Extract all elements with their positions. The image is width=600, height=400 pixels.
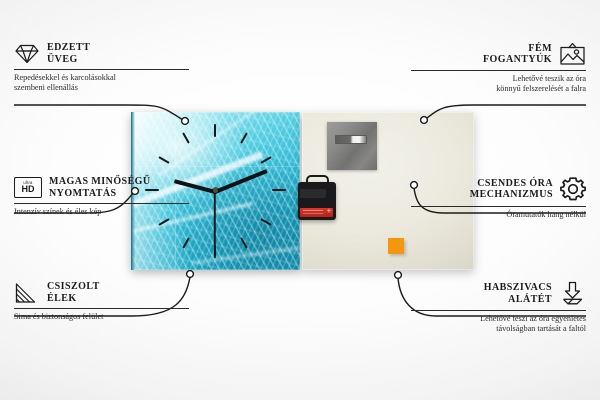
callout-title-line1: MAGAS MINŐSÉGŰ <box>49 176 151 188</box>
callout-title-group: EDZETT ÜVEG <box>47 42 90 65</box>
gear-icon <box>560 176 586 202</box>
quartz-mechanism: + <box>298 182 336 220</box>
callout-title-group: HABSZIVACS ALÁTÉT <box>484 282 552 305</box>
callout-subtitle-line1: Intenzív színek és éles kép <box>14 207 189 217</box>
foam-pad <box>388 238 404 254</box>
callout-metal-handles[interactable]: FÉM FOGANTYÚK Lehetővé teszik az óra kön… <box>411 42 586 94</box>
callout-title-line1: CSENDES ÓRA <box>470 178 553 190</box>
callout-subtitle-line1: Lehetővé teszi az óra egyenletes <box>411 314 586 324</box>
battery-plus-label: + <box>327 208 331 216</box>
callout-title-line2: NYOMTATÁS <box>49 188 151 200</box>
callout-subtitle-line1: Óramutatók hang nélkül <box>411 210 586 220</box>
callout-high-quality-print[interactable]: ultra HD MAGAS MINŐSÉGŰ NYOMTATÁS Intenz… <box>14 176 189 217</box>
callout-title-group: CSENDES ÓRA MECHANIZMUS <box>470 178 553 201</box>
callout-tempered-glass[interactable]: EDZETT ÜVEG Repedésekkel és karcolásokka… <box>14 42 189 93</box>
callout-subtitle-line2: szembeni ellenállás <box>14 83 189 93</box>
callout-title-group: CSISZOLT ÉLEK <box>47 281 100 304</box>
callout-subtitle-line1: Lehetővé teszik az óra <box>411 74 586 84</box>
picture-frame-icon <box>559 42 586 66</box>
callout-header: CSISZOLT ÉLEK <box>14 281 189 304</box>
callout-subtitle-line2: könnyű felszerelését a falra <box>411 84 586 94</box>
callout-divider <box>14 308 189 309</box>
diamond-icon <box>14 43 40 64</box>
callout-title-line2: ÜVEG <box>47 54 90 66</box>
callout-title-line1: FÉM <box>483 43 552 55</box>
callout-header: FÉM FOGANTYÚK <box>411 42 586 66</box>
callout-header: ultra HD MAGAS MINŐSÉGŰ NYOMTATÁS <box>14 176 189 199</box>
callout-divider <box>14 69 189 70</box>
clock-center-cap <box>213 188 218 193</box>
infographic-canvas: + <box>0 0 600 400</box>
battery-stripe <box>303 210 323 211</box>
callout-subtitle-line2: távolságban tartását a faltól <box>411 324 586 334</box>
callout-header: EDZETT ÜVEG <box>14 42 189 65</box>
callout-silent-clock-mechanism[interactable]: CSENDES ÓRA MECHANIZMUS Óramutatók hang … <box>411 176 586 220</box>
callout-title-line1: EDZETT <box>47 42 90 54</box>
battery: + <box>300 208 333 217</box>
clock-second-hand <box>214 192 216 248</box>
callout-polished-edges[interactable]: CSISZOLT ÉLEK Sima és biztonságos felüle… <box>14 281 189 322</box>
down-arrow-pad-icon <box>559 281 586 306</box>
callout-foam-backing[interactable]: HABSZIVACS ALÁTÉT Lehetővé teszi az óra … <box>411 281 586 334</box>
metal-hanger-icon <box>306 175 329 186</box>
badge-hd-label: HD <box>22 185 35 194</box>
clock-tick <box>214 124 216 137</box>
callout-header: HABSZIVACS ALÁTÉT <box>411 281 586 306</box>
connector-endpoint <box>187 271 194 278</box>
callout-title-line2: FOGANTYÚK <box>483 54 552 66</box>
callout-title-group: MAGAS MINŐSÉGŰ NYOMTATÁS <box>49 176 151 199</box>
callout-divider <box>411 70 586 71</box>
callout-title-line2: MECHANIZMUS <box>470 189 553 201</box>
callout-title-line1: CSISZOLT <box>47 281 100 293</box>
clock-tick <box>272 189 286 191</box>
callout-subtitle-line1: Repedésekkel és karcolásokkal <box>14 73 189 83</box>
callout-title-line1: HABSZIVACS <box>484 282 552 294</box>
connector-endpoint <box>395 272 402 279</box>
metal-hanger-plate <box>327 122 377 170</box>
beveled-edge-icon <box>14 282 40 304</box>
callout-divider <box>14 203 189 204</box>
callout-title-group: FÉM FOGANTYÚK <box>483 43 552 66</box>
ultra-hd-badge-icon: ultra HD <box>14 177 42 198</box>
callout-header: CSENDES ÓRA MECHANIZMUS <box>411 176 586 202</box>
callout-title-line2: ÉLEK <box>47 293 100 305</box>
glass-seam <box>131 166 300 167</box>
mechanism-band <box>300 189 326 198</box>
callout-title-line2: ALÁTÉT <box>484 294 552 306</box>
callout-divider <box>411 310 586 311</box>
callout-divider <box>411 206 586 207</box>
hanger-slot <box>335 135 367 144</box>
callout-subtitle-line1: Sima és biztonságos felület <box>14 312 189 322</box>
